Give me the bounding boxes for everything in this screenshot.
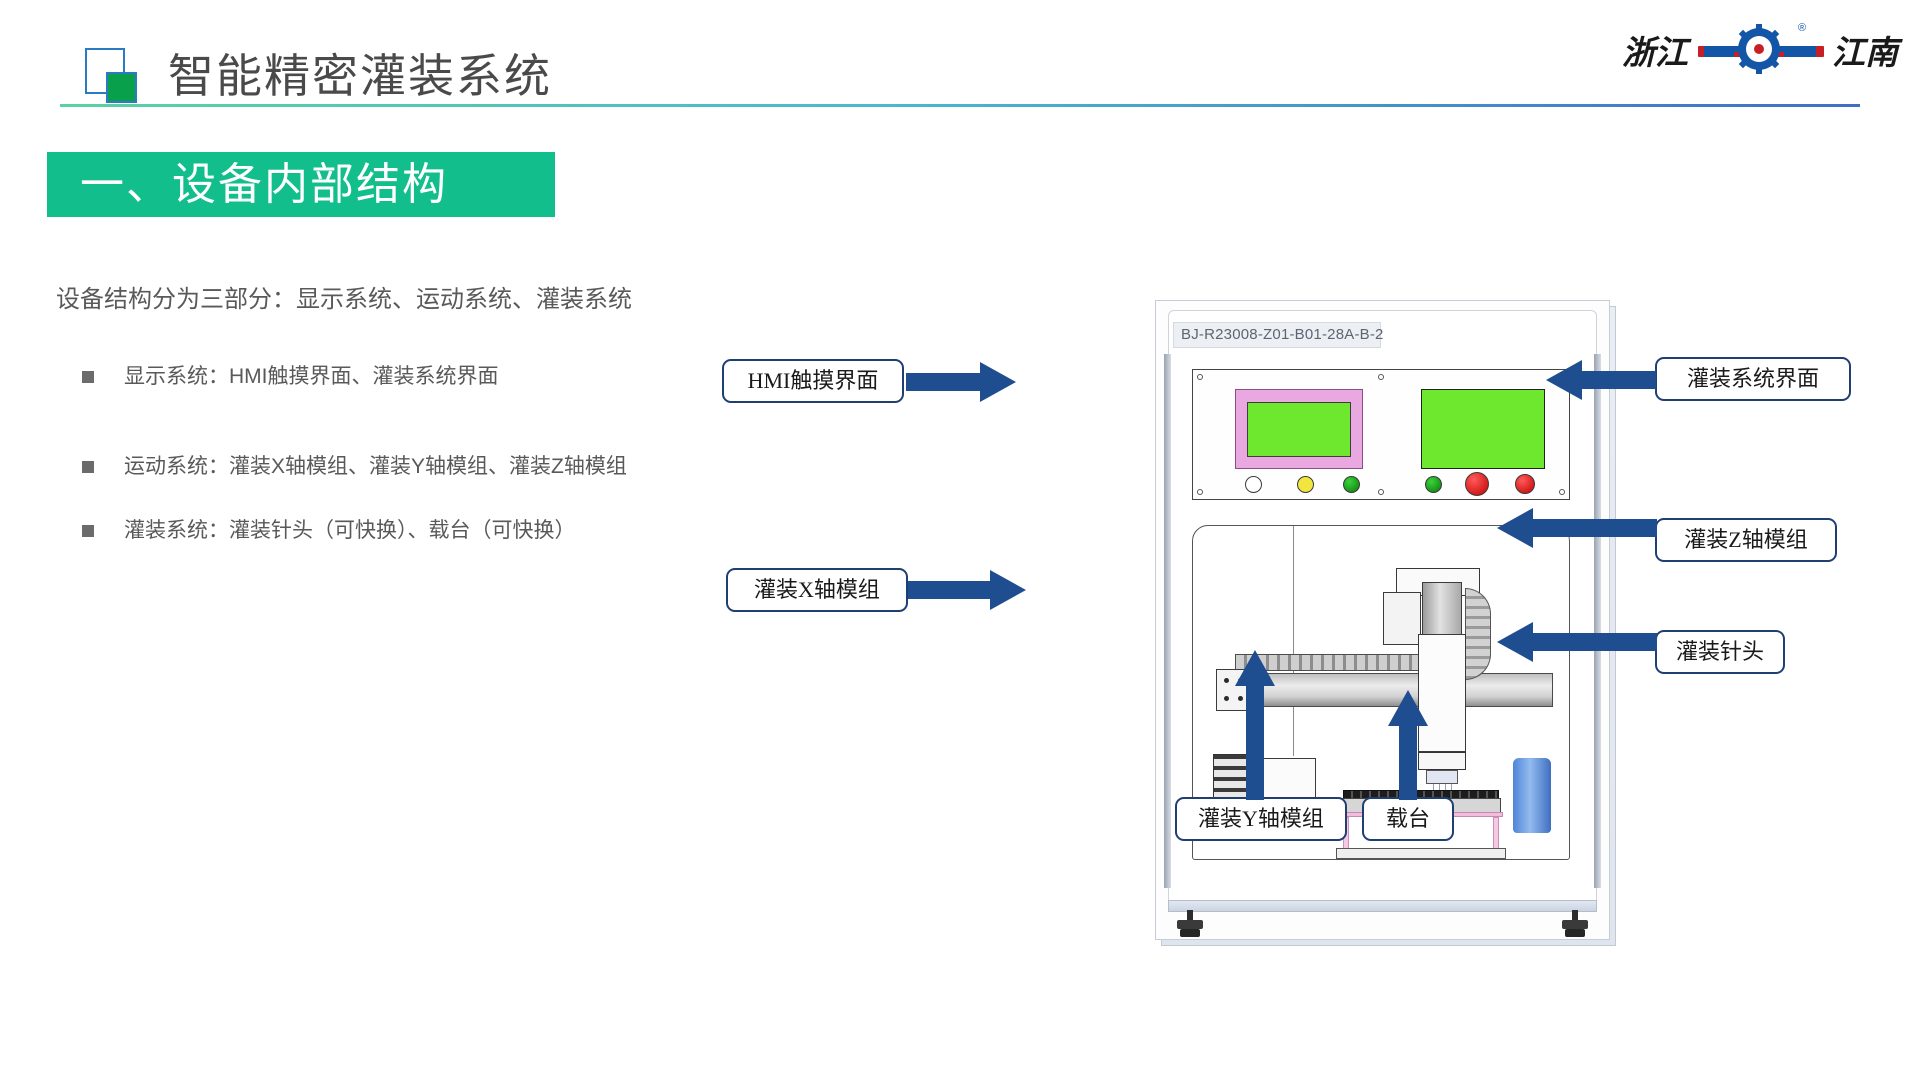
panel-screw-icon — [1197, 489, 1203, 495]
lead-paragraph: 设备结构分为三部分：显示系统、运动系统、灌装系统 — [56, 283, 756, 317]
arrow-y-axis-icon — [1235, 650, 1275, 800]
machine-post-right — [1594, 354, 1601, 888]
leveling-foot-right — [1562, 910, 1588, 938]
callout-stage[interactable]: 载台 — [1362, 797, 1454, 841]
panel-screw-icon — [1559, 489, 1565, 495]
hmi-touch-screen[interactable] — [1235, 389, 1363, 469]
bullet-marker-icon — [82, 371, 94, 383]
callout-hmi-label: HMI触摸界面 — [748, 368, 879, 393]
callout-filling-ui-label: 灌装系统界面 — [1687, 366, 1819, 391]
bullet-marker-icon — [82, 525, 94, 537]
hmi-screen-surface[interactable] — [1247, 402, 1351, 457]
filling-system-screen[interactable] — [1421, 389, 1545, 469]
leveling-foot-left — [1177, 910, 1203, 938]
brand-text-right: 江南 — [1832, 26, 1898, 74]
callout-z-axis-label: 灌装Z轴模组 — [1684, 527, 1807, 552]
brand-logo: 浙江 ® 江南 — [1622, 20, 1898, 78]
indicator-green-button[interactable] — [1343, 476, 1360, 493]
list-item: 灌装系统：灌装针头（可快换）、载台（可快换） — [82, 512, 702, 550]
filling-needle-assembly — [1426, 770, 1458, 784]
cable-chain-z — [1465, 588, 1491, 680]
indicator-green-button-2[interactable] — [1425, 476, 1442, 493]
registered-mark: ® — [1798, 22, 1806, 34]
logo-square-fill — [106, 72, 137, 103]
list-item: 运动系统：灌装X轴模组、灌装Y轴模组、灌装Z轴模组 — [82, 448, 702, 486]
machine-illustration: BJ-R23008-Z01-B01-28A-B-2 — [1155, 300, 1610, 940]
list-item: 显示系统：HMI触摸界面、灌装系统界面 — [82, 358, 702, 396]
arrow-hmi-icon — [906, 362, 1016, 402]
machine-post-left — [1164, 354, 1171, 888]
header-divider — [60, 104, 1860, 107]
page-title: 智能精密灌装系统 — [168, 40, 552, 106]
stage-base — [1336, 848, 1506, 859]
arrow-needle-icon — [1497, 622, 1657, 662]
list-item-label: 运动系统：灌装X轴模组、灌装Y轴模组、灌装Z轴模组 — [124, 455, 627, 478]
indicator-white-button[interactable] — [1245, 476, 1262, 493]
arrow-x-axis-icon — [908, 570, 1026, 610]
gear-emblem-icon — [1726, 24, 1792, 74]
header-logo-mark — [85, 48, 137, 100]
panel-screw-icon — [1378, 489, 1384, 495]
z-axis-block — [1383, 592, 1421, 645]
callout-y-axis-label: 灌装Y轴模组 — [1198, 806, 1324, 831]
arrow-stage-icon — [1388, 690, 1428, 800]
callout-filling-ui[interactable]: 灌装系统界面 — [1655, 357, 1851, 401]
callout-hmi[interactable]: HMI触摸界面 — [722, 359, 904, 403]
bullet-marker-icon — [82, 461, 94, 473]
control-panel — [1192, 369, 1570, 500]
machine-model-tag: BJ-R23008-Z01-B01-28A-B-2 — [1173, 322, 1381, 348]
bullet-list: 显示系统：HMI触摸界面、灌装系统界面 运动系统：灌装X轴模组、灌装Y轴模组、灌… — [82, 358, 702, 590]
panel-screw-icon — [1197, 374, 1203, 380]
indicator-yellow-button[interactable] — [1297, 476, 1314, 493]
section-banner-label: 一、设备内部结构 — [80, 153, 550, 217]
callout-y-axis[interactable]: 灌装Y轴模组 — [1175, 797, 1347, 841]
callout-x-axis[interactable]: 灌装X轴模组 — [726, 568, 908, 612]
callout-needle-label: 灌装针头 — [1676, 639, 1764, 664]
callout-needle[interactable]: 灌装针头 — [1655, 630, 1785, 674]
reagent-bottle — [1513, 758, 1551, 833]
arrow-filling-ui-icon — [1546, 360, 1656, 400]
stop-button-red[interactable] — [1465, 472, 1489, 496]
callout-z-axis[interactable]: 灌装Z轴模组 — [1655, 518, 1837, 562]
list-item-label: 显示系统：HMI触摸界面、灌装系统界面 — [124, 365, 499, 388]
callout-x-axis-label: 灌装X轴模组 — [754, 577, 880, 602]
callout-stage-label: 载台 — [1386, 806, 1430, 831]
machine-model-tag-label: BJ-R23008-Z01-B01-28A-B-2 — [1174, 323, 1380, 347]
brand-text-left: 浙江 — [1622, 26, 1688, 74]
arrow-z-axis-icon — [1497, 508, 1657, 548]
list-item-label: 灌装系统：灌装针头（可快换）、载台（可快换） — [124, 519, 576, 542]
chamber-divider — [1293, 526, 1294, 756]
panel-screw-icon — [1378, 374, 1384, 380]
stop-button-red-2[interactable] — [1515, 474, 1535, 494]
machine-base-plate — [1168, 900, 1597, 912]
